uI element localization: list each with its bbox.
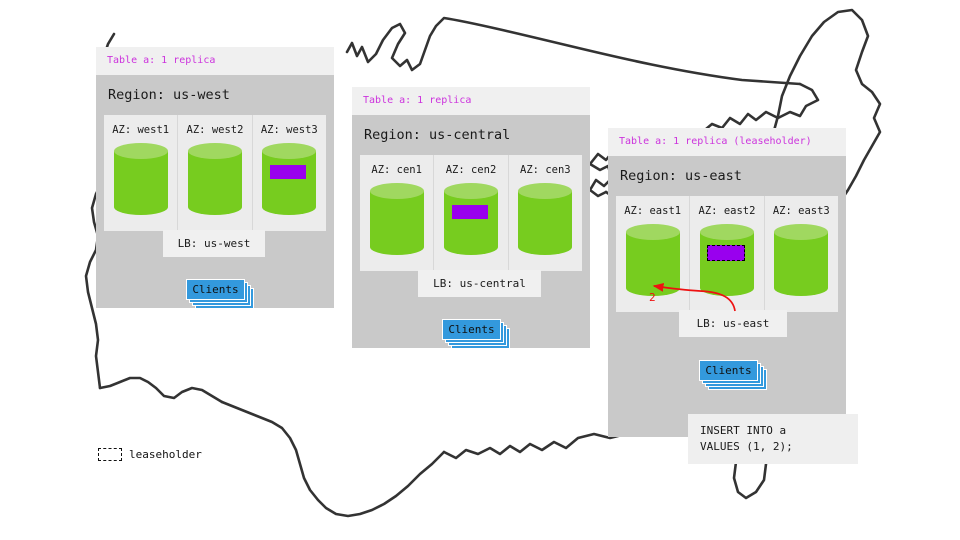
annotation-step-number: 2 [649, 291, 656, 304]
curved-red-arrow-icon [654, 286, 735, 311]
diagram-stage: Table a: 1 replica Region: us-west AZ: w… [0, 0, 960, 540]
annotation-arrow-layer [0, 0, 960, 540]
